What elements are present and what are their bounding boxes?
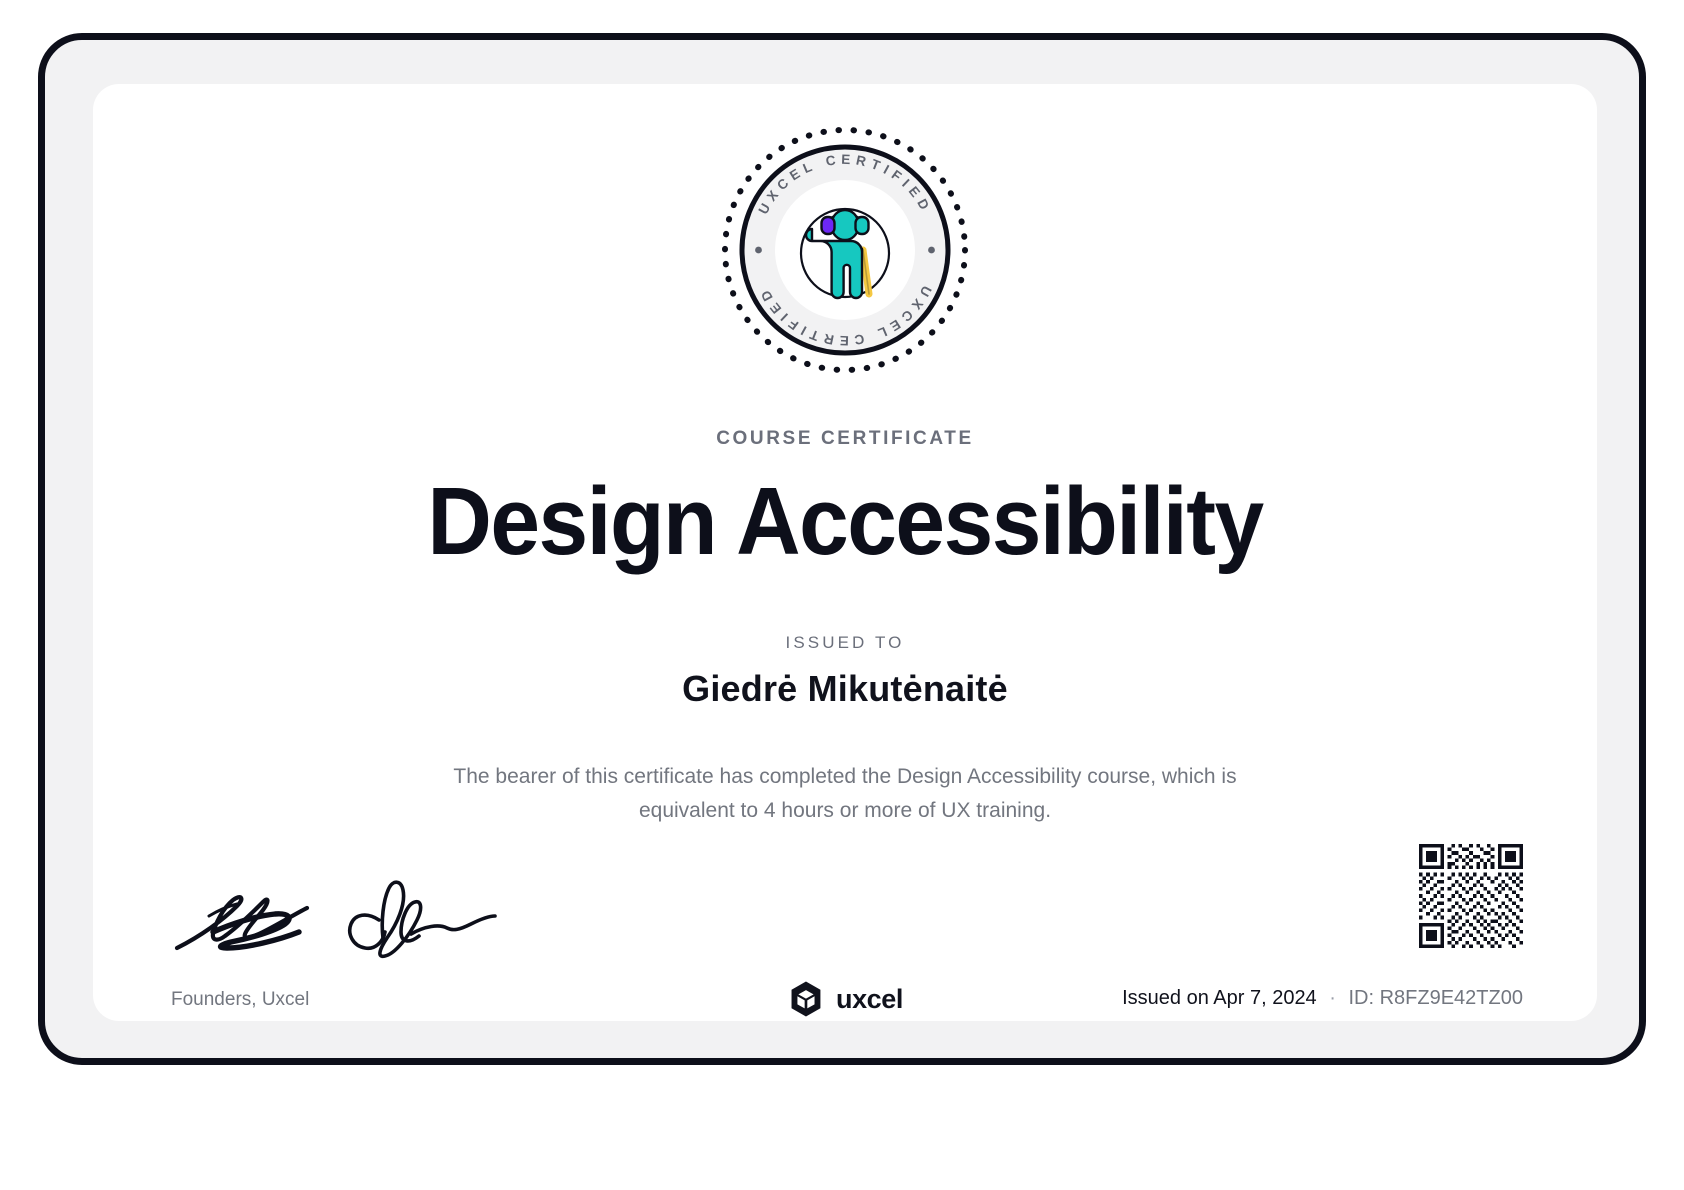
page-title: Design Accessibility [146,472,1545,573]
uxcel-certified-badge: UXCEL CERTIFIED UXCEL CERTIFIED [717,122,973,378]
certificate-id: ID: R8FZ9E42TZ00 [1348,987,1523,1009]
certificate-frame: UXCEL CERTIFIED UXCEL CERTIFIED [38,33,1646,1065]
issued-to-label: ISSUED TO [93,633,1597,653]
uxcel-cube-icon [787,980,825,1018]
founder-signatures [171,876,501,962]
uxcel-wordmark: uxcel [836,984,903,1015]
certificate-eyebrow: COURSE CERTIFICATE [93,428,1597,450]
recipient-name: Giedrė Mikutėnaitė [93,668,1597,710]
verification-qr-code[interactable] [1419,844,1523,948]
issued-on-date: Issued on Apr 7, 2024 [1122,987,1317,1009]
certificate-description: The bearer of this certificate has compl… [405,760,1285,828]
uxcel-logo: uxcel [787,980,903,1018]
certificate-seal: UXCEL CERTIFIED UXCEL CERTIFIED [93,122,1597,378]
founders-label: Founders, Uxcel [171,989,309,1011]
certificate-card: UXCEL CERTIFIED UXCEL CERTIFIED [93,84,1597,1021]
issue-info-separator: · [1322,987,1343,1009]
issue-info: Issued on Apr 7, 2024 · ID: R8FZ9E42TZ00 [1122,987,1523,1010]
